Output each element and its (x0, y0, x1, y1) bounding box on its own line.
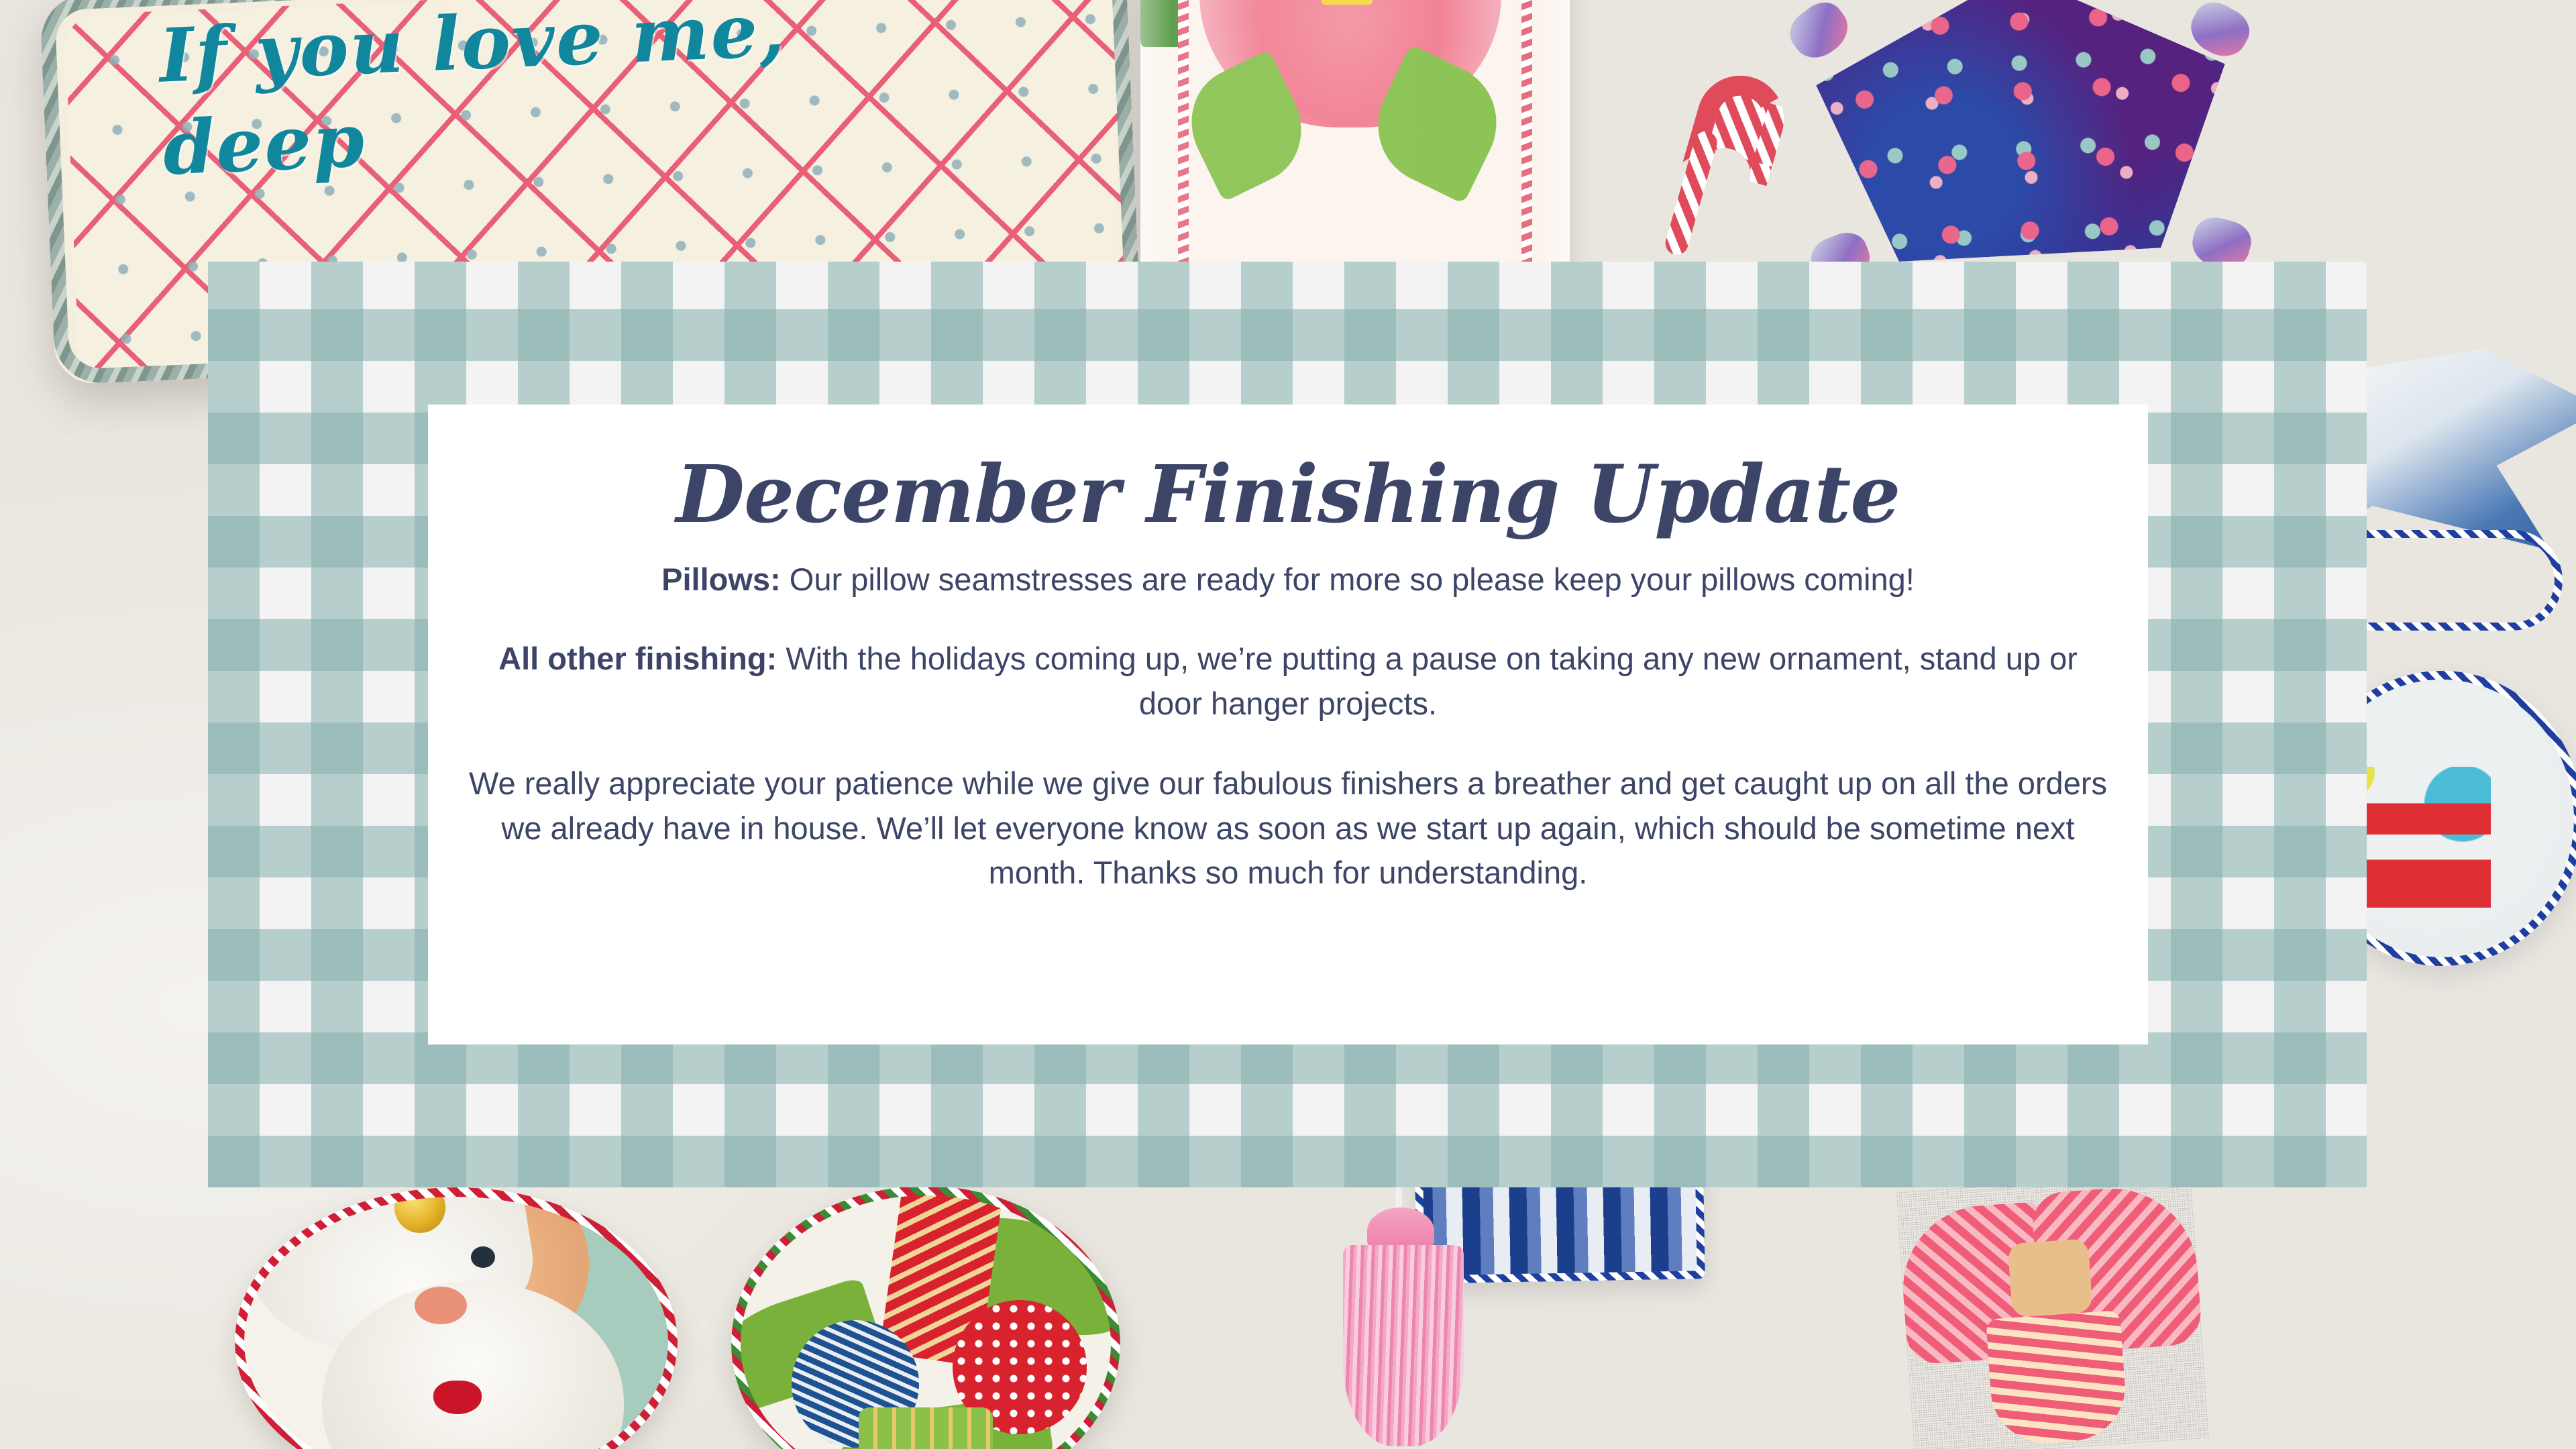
paragraph-all-other-finishing: All other finishing: With the holidays c… (473, 637, 2103, 726)
biscornu-floral-dots (1811, 0, 2234, 266)
paragraph-appreciation-text: We really appreciate your patience while… (469, 765, 2107, 890)
biscornu-corner-tab (1782, 0, 1857, 67)
bow-knot (2007, 1238, 2092, 1318)
candy-cane (1660, 65, 1794, 263)
paragraph-pillows-text: Our pillow seamstresses are ready for mo… (781, 561, 1915, 597)
bow-tail (1986, 1310, 2129, 1446)
canvas-plastic-sleeve (1140, 0, 1570, 275)
paragraph-pillows: Pillows: Our pillow seamstresses are rea… (473, 557, 2103, 602)
ornament-hanging-cord (2341, 530, 2563, 631)
announcement-card: December Finishing Update Pillows: Our p… (428, 405, 2148, 1044)
pink-bow-ornament (1896, 1171, 2210, 1449)
paragraph-all-other-finishing-lead: All other finishing: (498, 641, 777, 676)
santa-ornament (235, 1187, 678, 1449)
paragraph-appreciation: We really appreciate your patience while… (468, 761, 2108, 896)
christmas-baubles-ornament (731, 1186, 1120, 1449)
page-title: December Finishing Update (468, 449, 2108, 540)
paragraph-pillows-lead: Pillows: (661, 561, 781, 597)
tassel-skirt (1343, 1245, 1464, 1446)
pink-flower-needlepoint-canvas (1140, 0, 1570, 275)
floral-biscornu-pincushion (1811, 0, 2234, 266)
paragraph-all-other-finishing-text: With the holidays coming up, we’re putti… (777, 641, 2078, 721)
